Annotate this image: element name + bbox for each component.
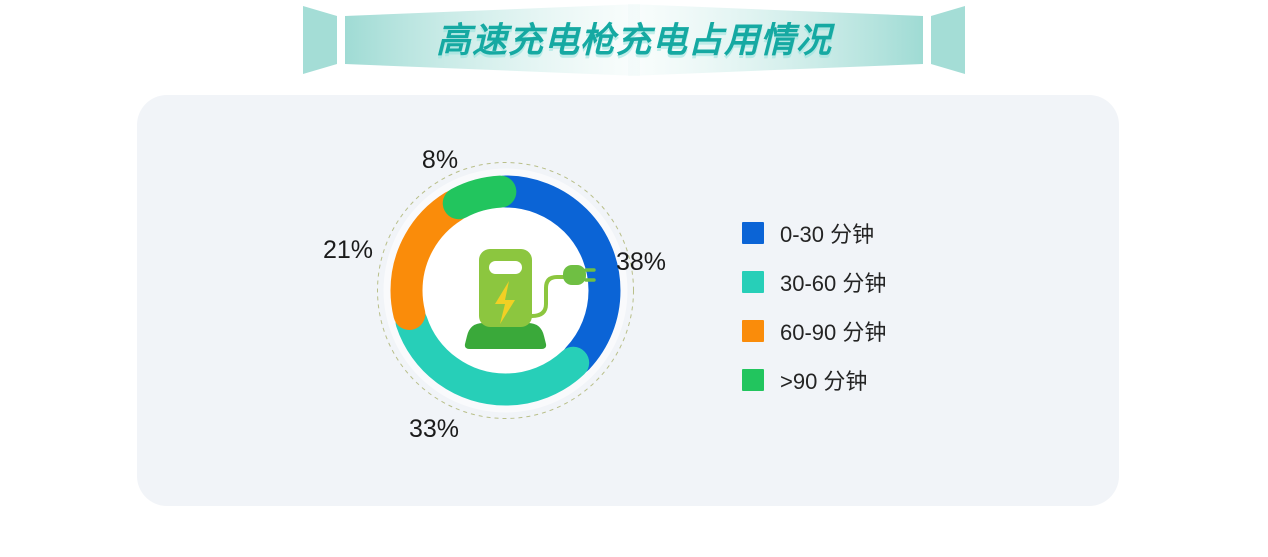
donut-chart-svg [367, 152, 644, 429]
legend-label-0: 0-30 分钟 [780, 217, 874, 249]
legend-item-2[interactable]: 60-90 分钟 [742, 306, 972, 355]
donut-chart [367, 152, 644, 429]
charger-plug-body [563, 265, 586, 285]
legend-item-1[interactable]: 30-60 分钟 [742, 257, 972, 306]
slice-percent-label-2: 21% [298, 236, 398, 265]
chart-legend: 0-30 分钟 30-60 分钟 60-90 分钟 >90 分钟 [742, 208, 972, 404]
page-title: 高速充电枪充电占用情况 [0, 12, 1268, 63]
legend-item-0[interactable]: 0-30 分钟 [742, 208, 972, 257]
legend-label-2: 60-90 分钟 [780, 315, 886, 347]
slice-percent-label-0: 38% [616, 248, 716, 277]
legend-label-3: >90 分钟 [780, 364, 867, 396]
legend-swatch-icon-3 [742, 369, 764, 391]
legend-swatch-icon-2 [742, 320, 764, 342]
title-banner: 高速充电枪充电占用情况 [0, 0, 1268, 80]
legend-swatch-icon-0 [742, 222, 764, 244]
legend-item-3[interactable]: >90 分钟 [742, 355, 972, 404]
legend-swatch-icon-1 [742, 271, 764, 293]
legend-label-1: 30-60 分钟 [780, 266, 886, 298]
slice-percent-label-3: 8% [390, 146, 490, 175]
charger-screen [489, 261, 522, 274]
slice-percent-label-1: 33% [384, 415, 484, 444]
